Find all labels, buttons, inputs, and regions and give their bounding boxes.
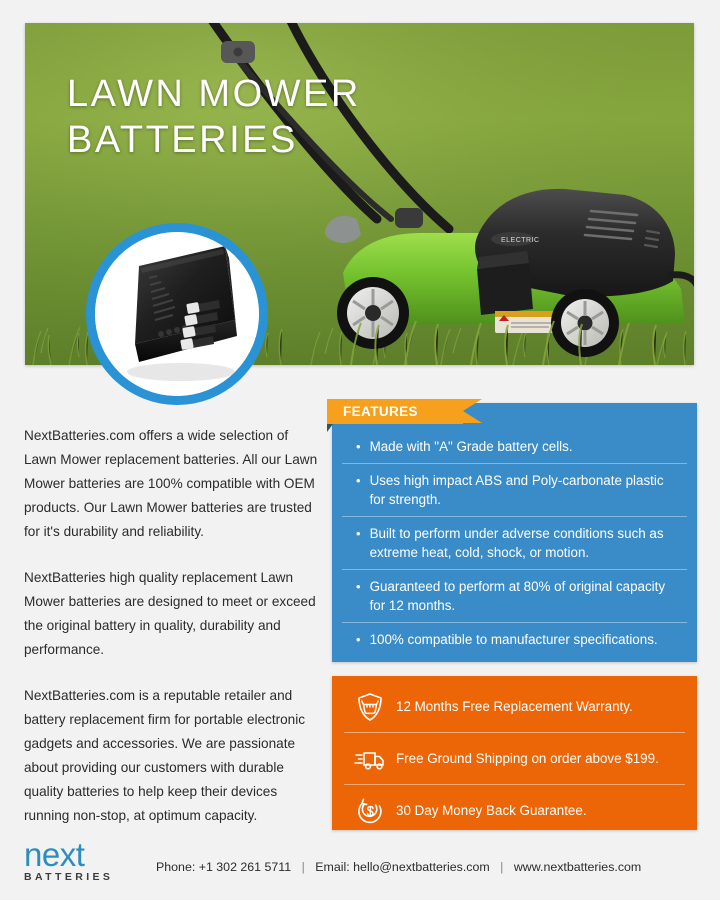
- features-ribbon-label: FEATURES: [327, 404, 418, 419]
- bullet-icon: •: [356, 630, 361, 649]
- footer: next BATTERIES Phone: +1 302 261 5711 | …: [24, 838, 696, 884]
- body-copy: NextBatteries.com offers a wide selectio…: [24, 424, 324, 828]
- shield-check-icon: [344, 691, 396, 723]
- contact-separator: |: [493, 860, 510, 874]
- logo-subtext: BATTERIES: [24, 872, 126, 883]
- feature-text: Made with "A" Grade battery cells.: [370, 437, 681, 456]
- svg-text:ELECTRIC: ELECTRIC: [501, 237, 540, 244]
- benefits-panel: 12 Months Free Replacement Warranty. Fre…: [332, 676, 697, 830]
- feature-text: 100% compatible to manufacturer specific…: [370, 630, 681, 649]
- benefit-text: 12 Months Free Replacement Warranty.: [396, 697, 685, 716]
- ribbon-fold-shadow: [327, 424, 333, 432]
- features-panel: • Made with "A" Grade battery cells. • U…: [332, 403, 697, 662]
- copy-paragraph-1: NextBatteries.com offers a wide selectio…: [24, 424, 324, 544]
- logo-wordmark: next: [24, 840, 126, 870]
- battery-pack-image: [95, 232, 259, 396]
- feature-item: • Uses high impact ABS and Poly-carbonat…: [342, 464, 687, 517]
- benefit-item: 30 Day Money Back Guarantee.: [344, 785, 685, 836]
- contact-phone[interactable]: Phone: +1 302 261 5711: [156, 860, 291, 874]
- ribbon-notch-icon: [463, 399, 482, 423]
- contact-separator: |: [295, 860, 312, 874]
- feature-item: • Built to perform under adverse conditi…: [342, 517, 687, 570]
- benefit-item: 12 Months Free Replacement Warranty.: [344, 681, 685, 733]
- bullet-icon: •: [356, 577, 361, 596]
- feature-item: • Made with "A" Grade battery cells.: [342, 430, 687, 464]
- bullet-icon: •: [356, 524, 361, 543]
- bullet-icon: •: [356, 471, 361, 490]
- benefit-item: Free Ground Shipping on order above $199…: [344, 733, 685, 785]
- feature-item: • Guaranteed to perform at 80% of origin…: [342, 570, 687, 623]
- copy-paragraph-3: NextBatteries.com is a reputable retaile…: [24, 684, 324, 828]
- contact-website[interactable]: www.nextbatteries.com: [514, 860, 641, 874]
- money-back-icon: [344, 795, 396, 827]
- flyer-page: ELECTRIC: [0, 0, 720, 900]
- bullet-icon: •: [356, 437, 361, 456]
- benefit-text: Free Ground Shipping on order above $199…: [396, 749, 685, 768]
- delivery-truck-icon: [344, 743, 396, 775]
- contact-email[interactable]: Email: hello@nextbatteries.com: [315, 860, 489, 874]
- battery-badge-inner: [95, 232, 259, 396]
- feature-text: Built to perform under adverse condition…: [370, 524, 681, 562]
- features-ribbon: FEATURES: [327, 399, 463, 424]
- contact-info: Phone: +1 302 261 5711 | Email: hello@ne…: [126, 848, 696, 874]
- feature-text: Uses high impact ABS and Poly-carbonate …: [370, 471, 681, 509]
- feature-text: Guaranteed to perform at 80% of original…: [370, 577, 681, 615]
- copy-paragraph-2: NextBatteries high quality replacement L…: [24, 566, 324, 662]
- feature-item: • 100% compatible to manufacturer specif…: [342, 623, 687, 656]
- hero-title: LAWN MOWER BATTERIES: [67, 71, 361, 163]
- features-list: • Made with "A" Grade battery cells. • U…: [342, 430, 687, 654]
- brand-logo[interactable]: next BATTERIES: [24, 840, 126, 883]
- battery-product-badge: [86, 223, 268, 405]
- benefit-text: 30 Day Money Back Guarantee.: [396, 801, 685, 820]
